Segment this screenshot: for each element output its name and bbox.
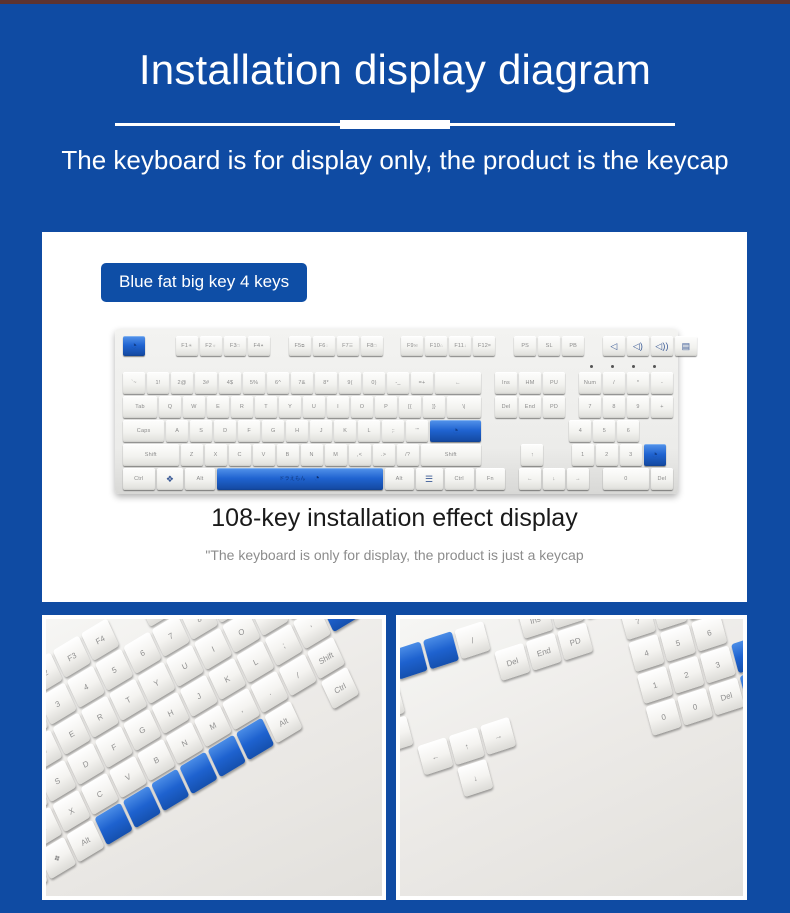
key-legend: P <box>384 405 388 411</box>
key-legend: 2@ <box>177 381 186 387</box>
key-q[interactable]: Q <box>159 396 181 418</box>
installation-caption: 108-key installation effect display <box>42 504 747 533</box>
key-legend: L <box>368 429 371 435</box>
key-shift[interactable]: Shift <box>421 444 481 466</box>
key-legend: Del <box>502 405 511 411</box>
key-f10[interactable]: F10⌂ <box>425 336 447 356</box>
key-legend: End <box>525 405 535 411</box>
key-l[interactable]: L <box>358 420 380 442</box>
angled-keyboard-right: /InsHMPUNum/*-ShiftShiftDelEndPD789+Ctrl… <box>400 619 743 896</box>
key-menu[interactable]: ☰ <box>416 468 443 490</box>
doraemon-mascot-icon: ◔ <box>314 474 320 485</box>
key-4[interactable]: 4 <box>569 420 591 442</box>
key-1[interactable]: 1! <box>147 372 169 394</box>
key-legend: Num <box>584 381 596 387</box>
key-[interactable]: ,< <box>349 444 371 466</box>
key-legend: 0 <box>624 477 627 483</box>
keyboard-gap <box>483 444 519 466</box>
key-caps[interactable]: Caps <box>123 420 164 442</box>
key-legend: PU <box>550 381 558 387</box>
key-legend: O <box>360 405 364 411</box>
key-legend: `~ <box>131 381 136 387</box>
keyboard-gap <box>483 372 493 394</box>
key-legend: Y <box>288 405 292 411</box>
key-legend: ← <box>527 477 533 483</box>
key-legend: / <box>613 381 615 387</box>
keyboard-row-home-row: CapsASDFGHJKL;:'"◔456 <box>123 420 670 442</box>
key-2[interactable]: 2 <box>596 444 618 466</box>
key-legend: F4 <box>253 344 260 350</box>
key-7[interactable]: 7& <box>291 372 313 394</box>
key-7[interactable]: 7 <box>579 396 601 418</box>
key-legend: 9 <box>636 405 639 411</box>
key-legend: Ins <box>502 381 510 387</box>
page-title: Installation display diagram <box>0 48 790 92</box>
key-legend: F <box>247 429 251 435</box>
key-[interactable]: - <box>651 372 673 394</box>
angled-keycap: Del <box>494 643 530 681</box>
key-legend: J <box>320 429 323 435</box>
key-i[interactable]: I <box>327 396 349 418</box>
volume-up-icon: ◁)) <box>655 342 669 351</box>
key-t[interactable]: T <box>255 396 277 418</box>
key-fn[interactable]: Fn <box>476 468 505 490</box>
key-d[interactable]: D <box>214 420 236 442</box>
key-ctrl[interactable]: Ctrl <box>445 468 474 490</box>
key-r[interactable]: R <box>231 396 253 418</box>
key-b[interactable]: B <box>277 444 299 466</box>
key-legend: 5 <box>603 429 606 435</box>
key-legend: 4$ <box>227 381 234 387</box>
key-[interactable]: .> <box>373 444 395 466</box>
angled-keycap: ↓ <box>457 759 493 797</box>
key-calculator[interactable]: ▤ <box>675 336 697 356</box>
key-[interactable]: ← <box>519 468 541 490</box>
key-legend: Alt <box>396 477 403 483</box>
spacebar-legend: ドラえもん <box>279 477 306 482</box>
keyboard-rows-container: ◔F1☀F2☼F3□F4⯅F5⧉F6◌F7☰F8□F9✉F10⌂F11↓F12⌗… <box>123 336 670 490</box>
scroll-lock-led <box>632 365 635 368</box>
key-sub-legend: ⌗ <box>488 344 491 349</box>
keyboard-gap <box>497 336 512 356</box>
key-f2[interactable]: F2☼ <box>200 336 222 356</box>
key-[interactable]: -_ <box>387 372 409 394</box>
key-legend: F2 <box>205 344 212 350</box>
key-legend: Z <box>190 453 194 459</box>
key-legend: S <box>199 429 203 435</box>
photo-panel-left: F1F2F3F4F5F6F7F8F9F10`1234567890-=←TabQW… <box>42 615 386 900</box>
key-pu[interactable]: PU <box>543 372 565 394</box>
key-legend: X <box>214 453 218 459</box>
key-sub-legend: ☀ <box>188 344 192 349</box>
key-legend: PB <box>569 344 577 350</box>
page-header: Installation display diagram The keyboar… <box>0 4 790 176</box>
key-hm[interactable]: HM <box>519 372 541 394</box>
key-legend: V <box>262 453 266 459</box>
angled-keycap: 0 <box>645 698 681 736</box>
key-legend: F6 <box>319 344 326 350</box>
indicator-led-row <box>123 363 670 370</box>
key-legend: SL <box>546 344 553 350</box>
key-sub-legend: ⌂ <box>440 344 443 349</box>
key-legend: - <box>661 381 663 387</box>
key-legend: 4 <box>579 429 582 435</box>
key-[interactable]: ← <box>435 372 481 394</box>
key-legend: 3 <box>629 453 632 459</box>
key-legend: Fn <box>487 477 494 483</box>
key-legend: HM <box>526 381 535 387</box>
doraemon-mascot-icon: ◔ <box>452 426 459 438</box>
angled-keycap: PD <box>557 622 593 660</box>
key-f4[interactable]: F4⯅ <box>248 336 270 356</box>
key-f6[interactable]: F6◌ <box>313 336 335 356</box>
angled-keycap <box>423 631 459 669</box>
angled-keyboard-left: F1F2F3F4F5F6F7F8F9F10`1234567890-=←TabQW… <box>46 619 382 896</box>
key-legend: ↑ <box>531 453 534 459</box>
key-legend: H <box>295 429 299 435</box>
key-legend: ,< <box>357 453 362 459</box>
key-sub-legend: ✉ <box>414 344 418 349</box>
key-sub-legend: ⧉ <box>301 344 304 349</box>
key-m[interactable]: M <box>325 444 347 466</box>
volume-mute-icon: ◁ <box>610 342 617 351</box>
key-[interactable]: =+ <box>411 372 433 394</box>
key-doraemon-mascot[interactable]: ◔ <box>430 420 481 442</box>
key-5[interactable]: 5% <box>243 372 265 394</box>
angled-keycap: 1 <box>637 666 673 704</box>
key-f8[interactable]: F8□ <box>361 336 383 356</box>
photo-angled-left: F1F2F3F4F5F6F7F8F9F10`1234567890-=←TabQW… <box>46 619 382 896</box>
angled-keycap: Del <box>708 677 743 715</box>
key-legend: Del <box>658 477 667 483</box>
key-legend: F8 <box>367 344 374 350</box>
installation-sub-caption: "The keyboard is only for display, the p… <box>42 547 747 563</box>
key-legend: B <box>286 453 290 459</box>
key-legend: A <box>175 429 179 435</box>
key-a[interactable]: A <box>166 420 188 442</box>
key-0[interactable]: 0) <box>363 372 385 394</box>
keyboard-gap <box>586 336 601 356</box>
keyboard-gap <box>591 468 601 490</box>
keyboard-gap <box>567 372 577 394</box>
key-legend: PS <box>521 344 529 350</box>
keyboard-gap <box>147 336 174 356</box>
badge-blue-fat-big-key: Blue fat big key 4 keys <box>101 263 307 302</box>
key-del[interactable]: Del <box>651 468 673 490</box>
menu-icon: ☰ <box>425 475 433 484</box>
key-2[interactable]: 2@ <box>171 372 193 394</box>
key-legend: 3# <box>203 381 210 387</box>
key-u[interactable]: U <box>303 396 325 418</box>
doraemon-mascot-icon: ◔ <box>651 450 658 462</box>
key-5[interactable]: 5 <box>593 420 615 442</box>
key-legend: + <box>660 405 663 411</box>
key-6[interactable]: 6^ <box>267 372 289 394</box>
key-legend: C <box>238 453 242 459</box>
key-legend: T <box>264 405 268 411</box>
key-6[interactable]: 6 <box>617 420 639 442</box>
key-f12[interactable]: F12⌗ <box>473 336 495 356</box>
num-lock-led <box>590 365 593 368</box>
key-legend: Tab <box>135 405 144 411</box>
key-end[interactable]: End <box>519 396 541 418</box>
key-w[interactable]: W <box>183 396 205 418</box>
key-legend: E <box>216 405 220 411</box>
keyboard-row-qwerty-row: TabQWERTYUIOP[{]}\|DelEndPD789+ <box>123 396 670 418</box>
key-tab[interactable]: Tab <box>123 396 157 418</box>
key-legend: ;: <box>391 429 394 435</box>
key-alt[interactable]: Alt <box>385 468 414 490</box>
key-legend: U <box>312 405 316 411</box>
key-[interactable]: ]} <box>423 396 445 418</box>
key-legend: ]} <box>432 405 436 411</box>
key-[interactable]: ↑ <box>521 444 543 466</box>
key-legend: Alt <box>196 477 203 483</box>
key-legend: R <box>240 405 244 411</box>
key-doraemon-mascot[interactable]: ドラえもん◔ <box>217 468 383 490</box>
key-legend: 6^ <box>275 381 281 387</box>
key-s[interactable]: S <box>190 420 212 442</box>
key-legend: F1 <box>181 344 188 350</box>
key-legend: 8* <box>323 381 329 387</box>
key-k[interactable]: K <box>334 420 356 442</box>
key-3[interactable]: 3# <box>195 372 217 394</box>
key-n[interactable]: N <box>301 444 323 466</box>
key-[interactable]: `~ <box>123 372 145 394</box>
key-legend: F12 <box>478 344 488 350</box>
key-num[interactable]: Num <box>579 372 601 394</box>
key-f[interactable]: F <box>238 420 260 442</box>
angled-keycap: 0 <box>677 687 713 725</box>
key-legend: F7 <box>342 344 349 350</box>
key-pd[interactable]: PD <box>543 396 565 418</box>
key-legend: Ctrl <box>454 477 463 483</box>
key-[interactable]: ↓ <box>543 468 565 490</box>
key-legend: F5 <box>294 344 301 350</box>
key-sub-legend: ↓ <box>464 344 466 349</box>
key-legend: '" <box>415 429 418 435</box>
key-legend: N <box>310 453 314 459</box>
key-9[interactable]: 9( <box>339 372 361 394</box>
key-volume-mute[interactable]: ◁ <box>603 336 625 356</box>
key-sub-legend: ☰ <box>349 344 353 349</box>
keyboard-gap <box>545 444 569 466</box>
angled-keycap: 3 <box>700 645 736 683</box>
key-legend: 1! <box>156 381 161 387</box>
doraemon-mascot-icon: ◔ <box>131 341 138 353</box>
key-pb[interactable]: PB <box>562 336 584 356</box>
key-z[interactable]: Z <box>181 444 203 466</box>
key-windows[interactable]: ❖ <box>157 468 184 490</box>
key-legend: F3 <box>230 344 237 350</box>
windows-icon: ❖ <box>166 475 174 484</box>
key-f7[interactable]: F7☰ <box>337 336 359 356</box>
key-legend: 2 <box>605 453 608 459</box>
key-[interactable]: '" <box>406 420 428 442</box>
key-o[interactable]: O <box>351 396 373 418</box>
key-legend: Q <box>168 405 172 411</box>
key-doraemon-mascot[interactable]: ◔ <box>644 444 666 466</box>
angled-keycap: 5 <box>660 624 696 662</box>
calculator-icon: ▤ <box>682 342 691 351</box>
main-display-card: Blue fat big key 4 keys ◔F1☀F2☼F3□F4⯅F5⧉… <box>42 232 747 602</box>
keyboard-gap <box>507 468 517 490</box>
key-sub-legend: □ <box>374 344 377 349</box>
angled-keycap: 2 <box>668 656 704 694</box>
divider-center-accent <box>340 120 450 129</box>
key-1[interactable]: 1 <box>572 444 594 466</box>
key-legend: Shift <box>145 453 157 459</box>
key-e[interactable]: E <box>207 396 229 418</box>
key-j[interactable]: J <box>310 420 332 442</box>
keyboard-gap <box>483 396 493 418</box>
bottom-blue-fill <box>0 900 790 913</box>
keyboard-row-number-row: `~1!2@3#4$5%6^7&8*9(0)-_=+←InsHMPUNum/*- <box>123 372 670 394</box>
key-legend: → <box>575 477 581 483</box>
keyboard-row-function-row: ◔F1☀F2☼F3□F4⯅F5⧉F6◌F7☰F8□F9✉F10⌂F11↓F12⌗… <box>123 336 670 356</box>
key-h[interactable]: H <box>286 420 308 442</box>
key-legend: 7& <box>298 381 305 387</box>
key-legend: ← <box>455 381 461 387</box>
keyboard-gap <box>385 336 400 356</box>
key-volume-down[interactable]: ◁) <box>627 336 649 356</box>
title-divider <box>115 120 675 129</box>
key-sub-legend: ☼ <box>212 344 216 349</box>
key-legend: F9 <box>407 344 414 350</box>
key-ctrl[interactable]: Ctrl <box>123 468 155 490</box>
caps-lock-led <box>611 365 614 368</box>
key-8[interactable]: 8* <box>315 372 337 394</box>
key-ins[interactable]: Ins <box>495 372 517 394</box>
key-legend: -_ <box>395 381 400 387</box>
key-legend: M <box>333 453 338 459</box>
key-legend: 5% <box>250 381 258 387</box>
key-f9[interactable]: F9✉ <box>401 336 423 356</box>
key-f11[interactable]: F11↓ <box>449 336 471 356</box>
volume-down-icon: ◁) <box>633 342 643 351</box>
photo-panel-right: /InsHMPUNum/*-ShiftShiftDelEndPD789+Ctrl… <box>396 615 747 900</box>
key-[interactable]: \| <box>447 396 481 418</box>
key-legend: 9( <box>347 381 352 387</box>
key-sub-legend: ◌ <box>326 344 329 349</box>
key-legend: 8 <box>612 405 615 411</box>
key-shift[interactable]: Shift <box>123 444 179 466</box>
key-p[interactable]: P <box>375 396 397 418</box>
key-legend: ↓ <box>552 477 555 483</box>
key-c[interactable]: C <box>229 444 251 466</box>
key-legend: W <box>191 405 196 411</box>
page-subtitle: The keyboard is for display only, the pr… <box>0 145 790 176</box>
key-[interactable]: + <box>651 396 673 418</box>
key-0[interactable]: 0 <box>603 468 649 490</box>
key-doraemon-mascot[interactable]: ◔ <box>123 336 145 356</box>
key-legend: 1 <box>581 453 584 459</box>
key-legend: Shift <box>445 453 457 459</box>
key-legend: K <box>343 429 347 435</box>
key-f1[interactable]: F1☀ <box>176 336 198 356</box>
key-[interactable]: / <box>603 372 625 394</box>
key-y[interactable]: Y <box>279 396 301 418</box>
key-sub-legend: ⯅ <box>260 344 264 349</box>
key-legend: Caps <box>137 429 151 435</box>
photo-angled-right: /InsHMPUNum/*-ShiftShiftDelEndPD789+Ctrl… <box>400 619 743 896</box>
angled-keycap: ↑ <box>449 727 485 765</box>
key-alt[interactable]: Alt <box>185 468 214 490</box>
keyboard-body: ◔F1☀F2☼F3□F4⯅F5⧉F6◌F7☰F8□F9✉F10⌂F11↓F12⌗… <box>115 329 678 494</box>
key-legend: I <box>337 405 339 411</box>
key-legend: * <box>637 381 639 387</box>
angled-keycap: 4 <box>628 634 664 672</box>
key-legend: F11 <box>454 344 464 350</box>
key-sl[interactable]: SL <box>538 336 560 356</box>
key-volume-up[interactable]: ◁)) <box>651 336 673 356</box>
keyboard-photo: ◔F1☀F2☼F3□F4⯅F5⧉F6◌F7☰F8□F9✉F10⌂F11↓F12⌗… <box>115 329 678 494</box>
key-v[interactable]: V <box>253 444 275 466</box>
win-lock-led <box>653 365 656 368</box>
angled-keycap: ← <box>417 737 453 775</box>
angled-keycap: / <box>454 621 490 659</box>
key-f5[interactable]: F5⧉ <box>289 336 311 356</box>
key-legend: PD <box>550 405 558 411</box>
key-[interactable]: ;: <box>382 420 404 442</box>
key-legend: G <box>271 429 275 435</box>
key-legend: F10 <box>430 344 440 350</box>
key-sub-legend: □ <box>237 344 240 349</box>
key-[interactable]: * <box>627 372 649 394</box>
key-legend: [{ <box>408 405 412 411</box>
keyboard-row-bottom-row: Ctrl❖Altドラえもん◔Alt☰CtrlFn←↓→0Del <box>123 468 670 490</box>
key-legend: .> <box>381 453 386 459</box>
key-legend: \| <box>462 405 465 411</box>
key-legend: =+ <box>419 381 426 387</box>
key-3[interactable]: 3 <box>620 444 642 466</box>
key-legend: D <box>223 429 227 435</box>
key-4[interactable]: 4$ <box>219 372 241 394</box>
key-x[interactable]: X <box>205 444 227 466</box>
key-del[interactable]: Del <box>495 396 517 418</box>
key-legend: 7 <box>588 405 591 411</box>
key-[interactable]: → <box>567 468 589 490</box>
angled-keycap: → <box>480 717 516 755</box>
key-g[interactable]: G <box>262 420 284 442</box>
key-8[interactable]: 8 <box>603 396 625 418</box>
angled-keycap: End <box>526 632 562 670</box>
key-[interactable]: [{ <box>399 396 421 418</box>
keyboard-gap <box>483 420 567 442</box>
key-legend: Ctrl <box>134 477 143 483</box>
key-legend: 0) <box>371 381 376 387</box>
key-legend: 6 <box>627 429 630 435</box>
keyboard-row-shift-row: ShiftZXCVBNM,<.>/?Shift↑123◔ <box>123 444 670 466</box>
key-ps[interactable]: PS <box>514 336 536 356</box>
keyboard-gap <box>567 396 577 418</box>
key-[interactable]: /? <box>397 444 419 466</box>
key-9[interactable]: 9 <box>627 396 649 418</box>
key-f3[interactable]: F3□ <box>224 336 246 356</box>
key-legend: /? <box>405 453 410 459</box>
keyboard-gap <box>272 336 287 356</box>
